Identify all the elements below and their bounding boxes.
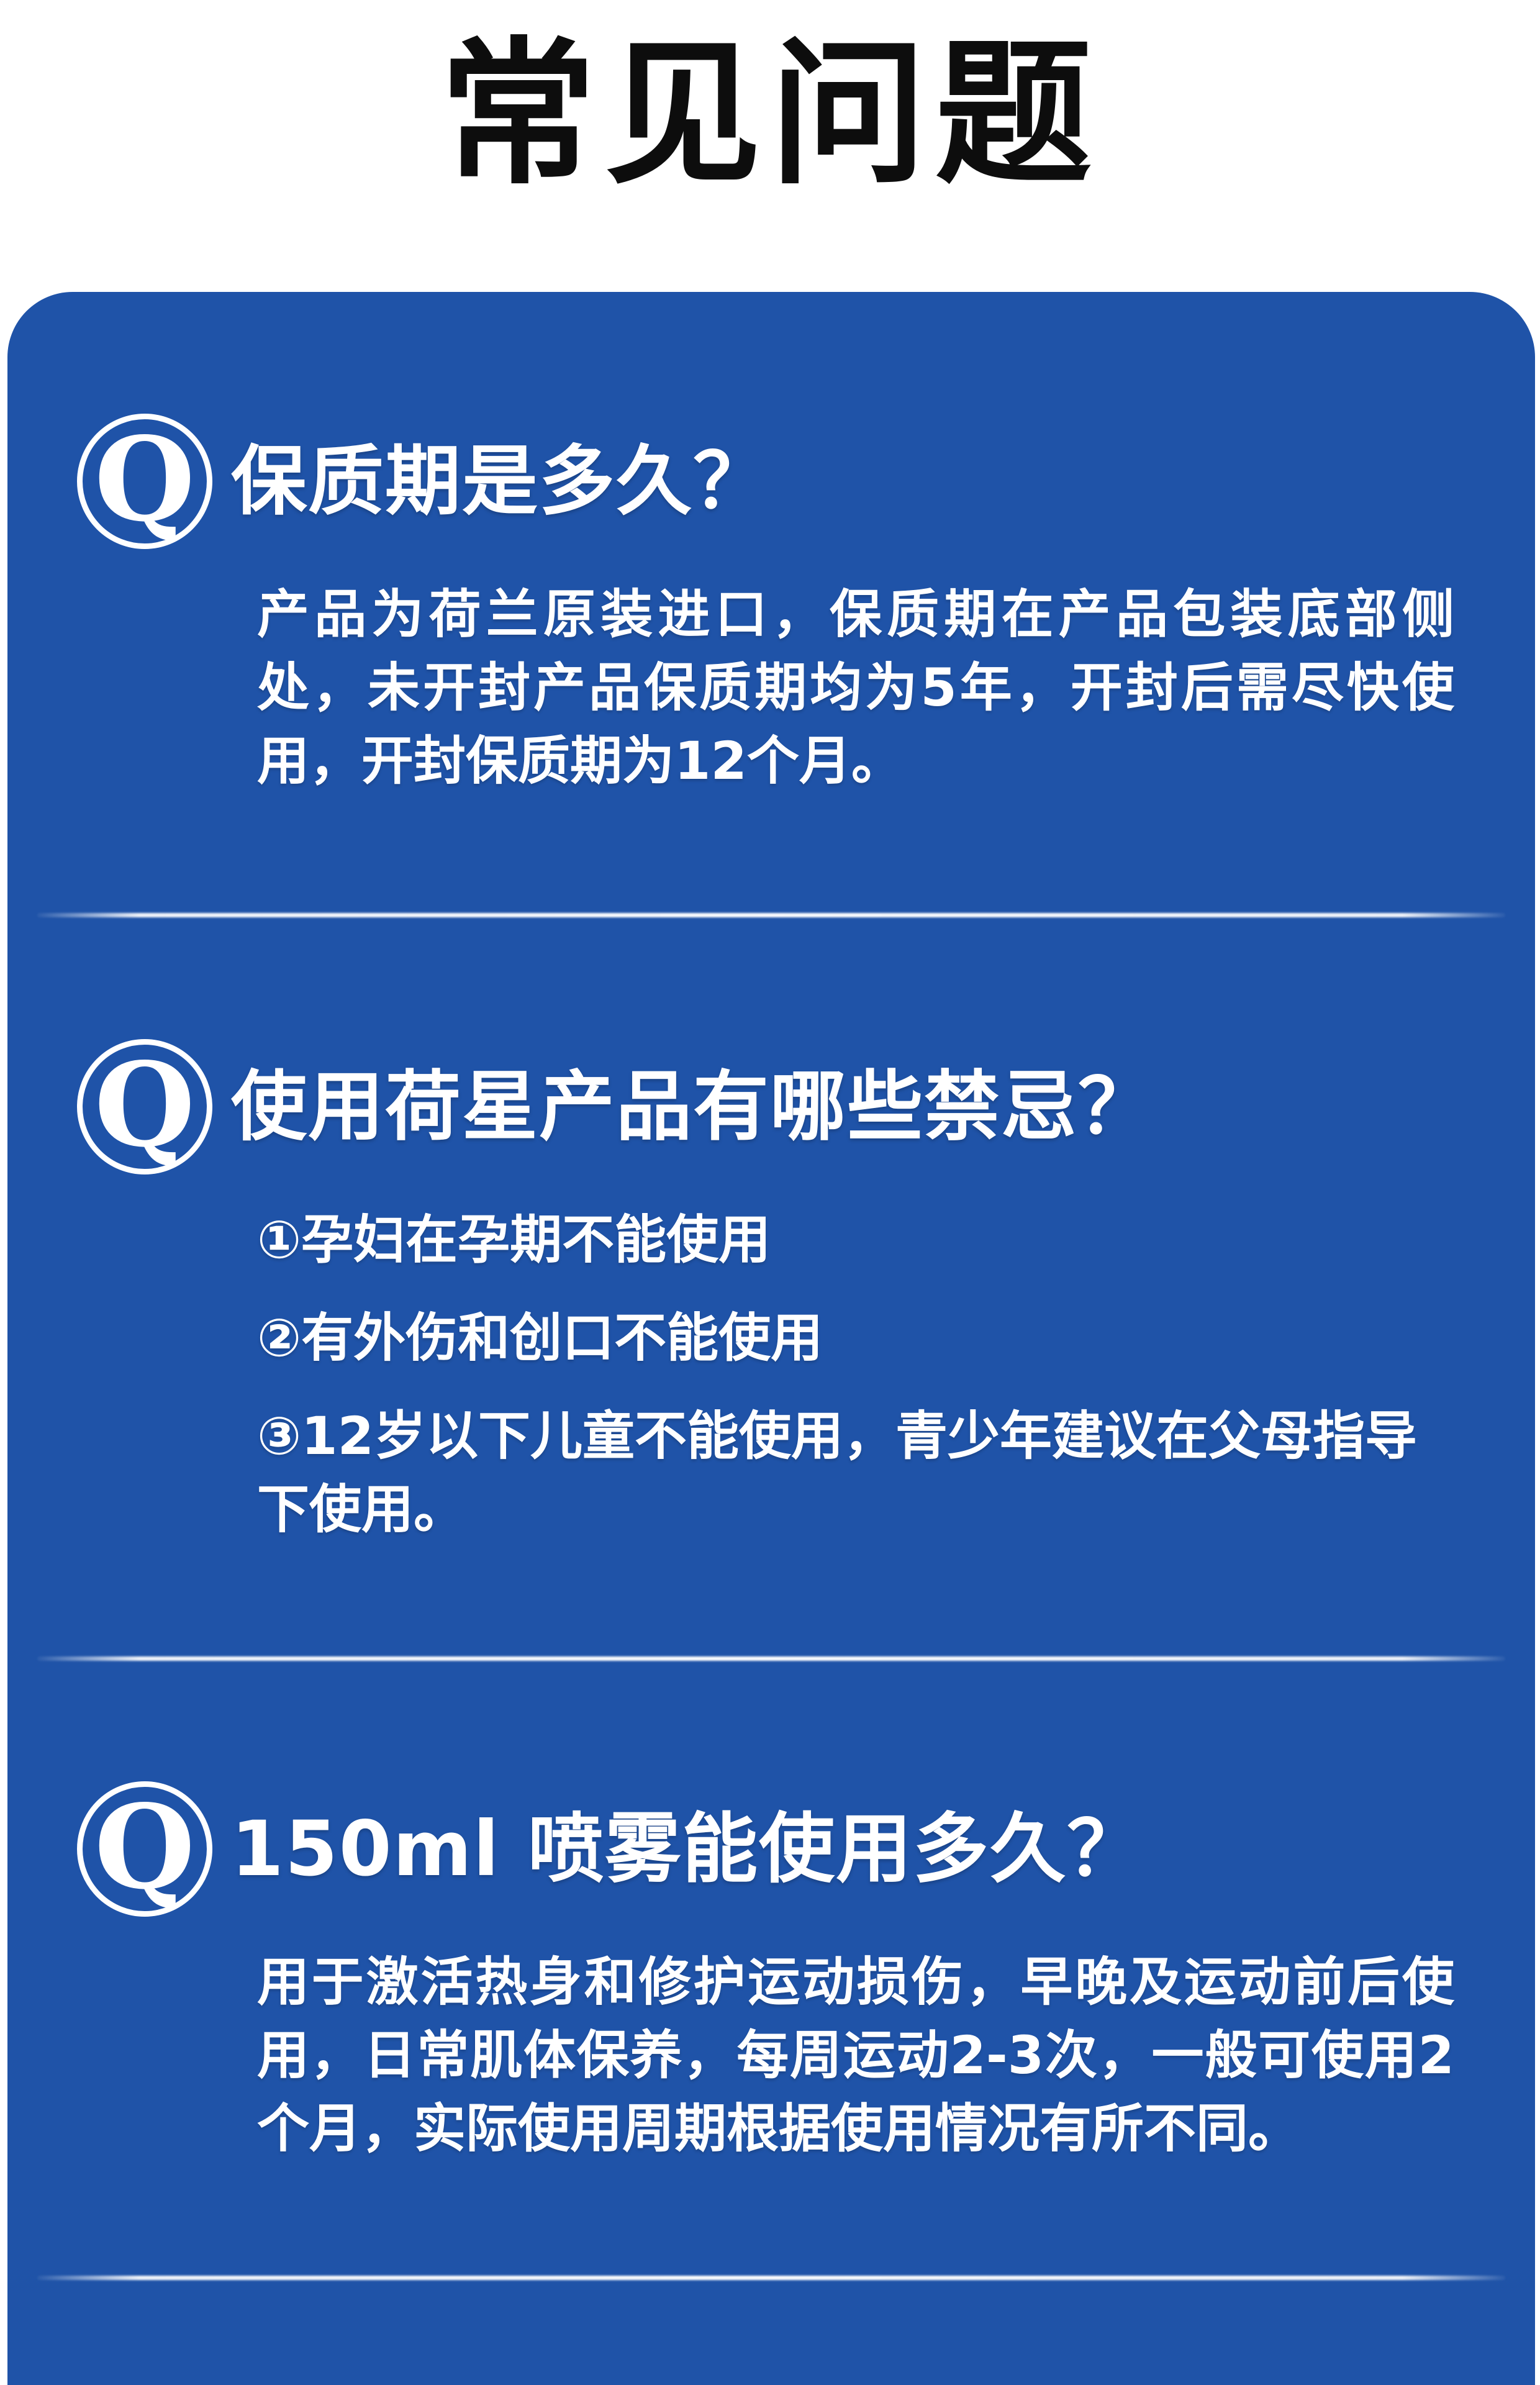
section-divider — [37, 913, 1505, 917]
answer-list-item: ③12岁以下儿童不能使用，青少年建议在父母指导下使用。 — [257, 1399, 1454, 1546]
q-letter-label: Q — [77, 1781, 212, 1917]
question-text: 150ml 喷雾能使用多久？ — [231, 1806, 1144, 1892]
question-row[interactable]: Q 150ml 喷雾能使用多久？ — [7, 1781, 1535, 1917]
question-row[interactable]: Q 使用荷星产品有哪些禁忌？ — [7, 1039, 1535, 1174]
section-divider — [37, 2276, 1505, 2280]
question-text: 保质期是多久？ — [231, 438, 770, 525]
faq-page: 常见问题 Q 保质期是多久？ 产品为荷兰原装进口，保质期在产品包装底部侧处，未开… — [0, 0, 1540, 2385]
page-title: 常见问题 — [0, 12, 1540, 217]
faq-item[interactable]: Q 150ml 喷雾能使用多久？ 用于激活热身和修护运动损伤，早晚及运动前后使用… — [7, 1661, 1535, 2280]
answer-list-item: ②有外伤和创口不能使用 — [257, 1301, 1454, 1374]
divider-wrap — [7, 1656, 1535, 1661]
divider-wrap — [7, 2276, 1535, 2280]
answer-list-item: ①孕妇在孕期不能使用 — [257, 1203, 1454, 1276]
question-row[interactable]: Q 保质期是多久？ — [7, 414, 1535, 549]
faq-item[interactable]: Q 使用荷星产品有哪些禁忌？ ①孕妇在孕期不能使用 ②有外伤和创口不能使用 ③1… — [7, 917, 1535, 1661]
q-letter-label: Q — [77, 1039, 212, 1174]
section-divider — [37, 1656, 1505, 1661]
faq-list: Q 保质期是多久？ 产品为荷兰原装进口，保质期在产品包装底部侧处，未开封产品保质… — [7, 292, 1535, 2385]
question-mark-icon: Q — [77, 414, 212, 549]
q-letter-label: Q — [77, 414, 212, 549]
divider-wrap — [7, 913, 1535, 917]
question-mark-icon: Q — [77, 1039, 212, 1174]
question-text: 使用荷星产品有哪些禁忌？ — [231, 1063, 1155, 1150]
answer-text: 用于激活热身和修护运动损伤，早晚及运动前后使用，日常肌体保养，每周运动2-3次，… — [257, 1945, 1454, 2165]
faq-card: Q 保质期是多久？ 产品为荷兰原装进口，保质期在产品包装底部侧处，未开封产品保质… — [7, 292, 1535, 2385]
faq-item[interactable]: Q 保质期是多久？ 产品为荷兰原装进口，保质期在产品包装底部侧处，未开封产品保质… — [7, 292, 1535, 917]
faq-item[interactable]: Q 喷雾是运动前用还是运动后用？ 运动前后都需要使用，热喷运动前使用，帮助肌肉充… — [7, 2280, 1535, 2385]
question-mark-icon: Q — [77, 1781, 212, 1917]
answer-text: 产品为荷兰原装进口，保质期在产品包装底部侧处，未开封产品保质期均为5年，开封后需… — [257, 578, 1454, 797]
answer-list: ①孕妇在孕期不能使用 ②有外伤和创口不能使用 ③12岁以下儿童不能使用，青少年建… — [257, 1203, 1454, 1546]
